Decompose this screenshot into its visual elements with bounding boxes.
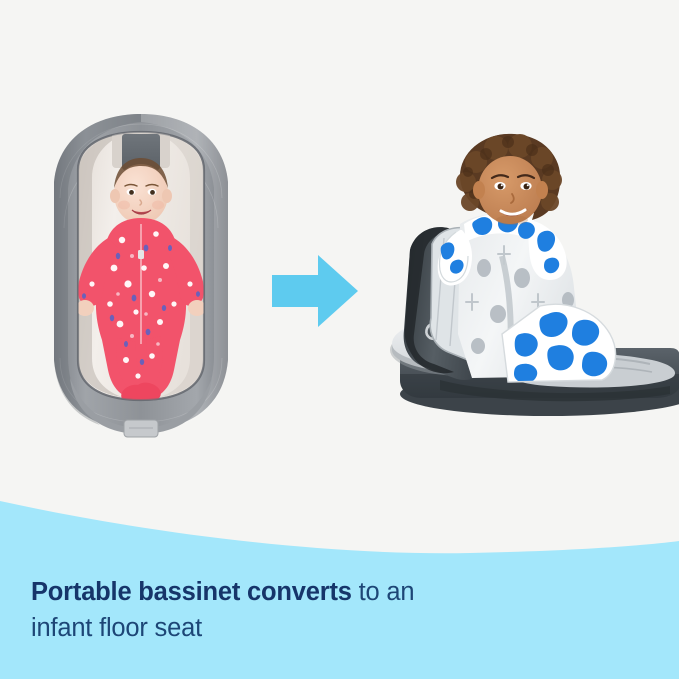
right-baby-head (456, 134, 562, 225)
right-product-image (352, 128, 679, 423)
caption-light: to an (352, 578, 415, 606)
converts-to-arrow (270, 253, 360, 329)
caption-line2: infant floor seat (31, 614, 202, 642)
caption-block: Portable bassinet converts to an infant … (31, 574, 591, 646)
caption-bold: Portable bassinet converts (31, 578, 352, 606)
product-feature-card: Portable bassinet converts to an infant … (0, 0, 679, 679)
left-product-image (48, 108, 234, 438)
right-baby (438, 134, 616, 383)
